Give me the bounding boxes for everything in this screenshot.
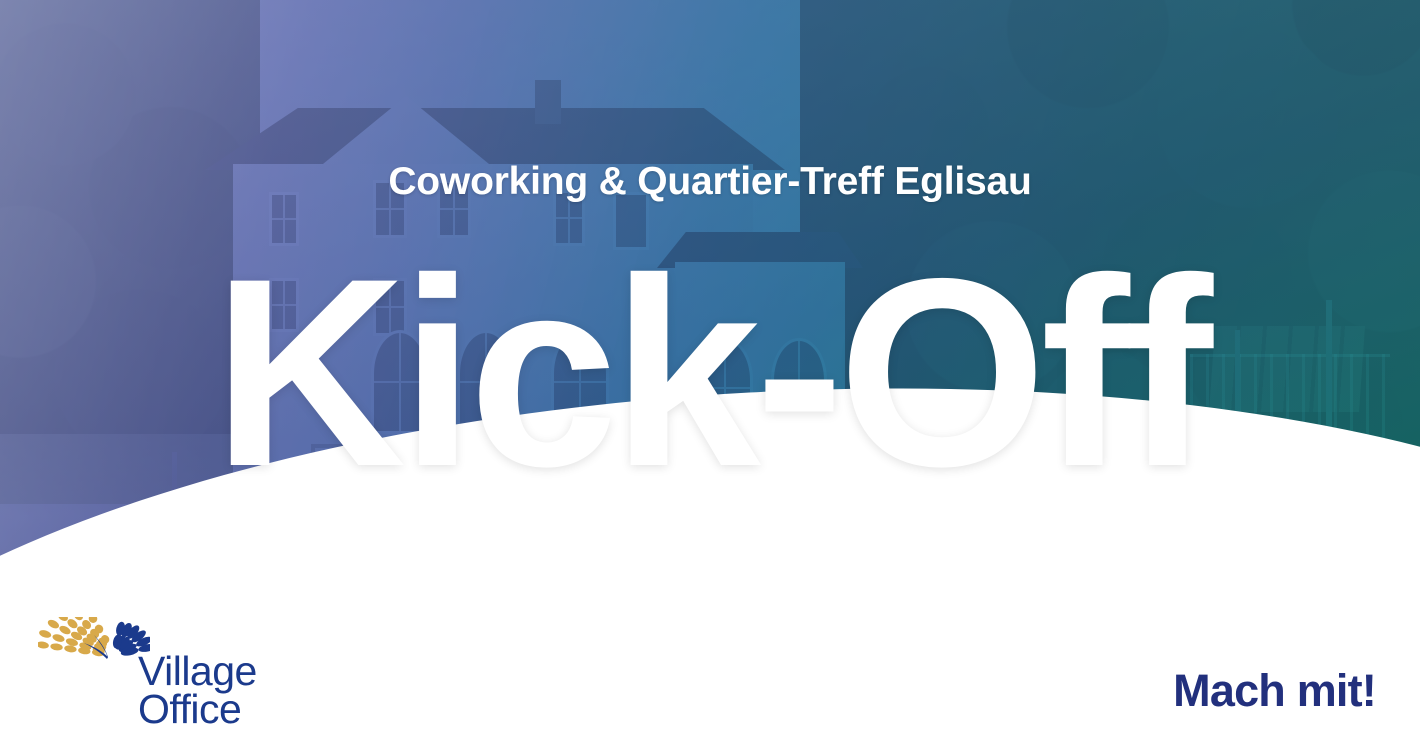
footer-bar: Village Office Mach mit! [0, 563, 1420, 743]
village-office-grain-fan-mark [38, 617, 150, 717]
logo-line-office: Office [138, 691, 257, 729]
village-office-logo[interactable]: Village Office [38, 615, 288, 725]
village-office-wordmark: Village Office [138, 653, 257, 728]
event-poster: Coworking & Quartier-Treff Eglisau Kick-… [0, 0, 1420, 743]
cta-text[interactable]: Mach mit! [1173, 665, 1376, 717]
hero-banner: Coworking & Quartier-Treff Eglisau Kick-… [0, 0, 1420, 600]
